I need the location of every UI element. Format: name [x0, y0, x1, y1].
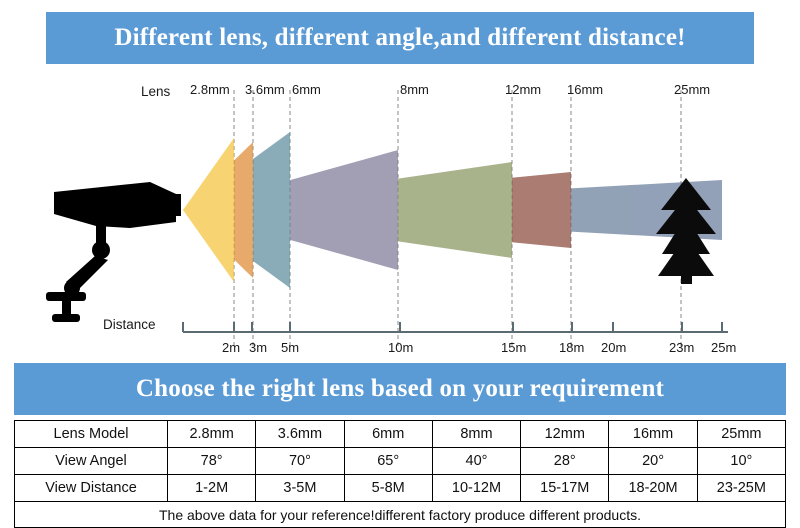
lens-coverage-diagram: Lens Distance — [0, 64, 800, 364]
distance-tick-25m: 25m — [711, 340, 736, 355]
title-banner: Different lens, different angle,and diff… — [46, 12, 754, 64]
subtitle-banner-text: Choose the right lens based on your requ… — [136, 375, 664, 403]
cell-lens-model-6mm: 6mm — [344, 421, 432, 448]
table-footnote-row: The above data for your reference!differ… — [15, 502, 786, 528]
table-footnote: The above data for your reference!differ… — [15, 502, 786, 528]
cell-lens-model-2-8mm: 2.8mm — [168, 421, 256, 448]
distance-axis — [183, 322, 728, 332]
row-header-lens-model: Lens Model — [15, 421, 168, 448]
infographic-root: Different lens, different angle,and diff… — [0, 0, 800, 521]
distance-tick-23m: 23m — [669, 340, 694, 355]
cell-view-angel-8mm: 40° — [432, 448, 520, 475]
cell-view-distance-6mm: 5-8M — [344, 475, 432, 502]
cell-view-angel-16mm: 20° — [609, 448, 697, 475]
distance-tick-3m: 3m — [249, 340, 267, 355]
table-row: View Angel 78° 70° 65° 40° 28° 20° 10° — [15, 448, 786, 475]
lens-tick-25mm: 25mm — [674, 82, 710, 97]
fov-cones — [183, 132, 722, 288]
cell-view-distance-3-6mm: 3-5M — [256, 475, 344, 502]
row-header-view-distance: View Distance — [15, 475, 168, 502]
cell-view-distance-8mm: 10-12M — [432, 475, 520, 502]
distance-tick-2m: 2m — [222, 340, 240, 355]
distance-tick-18m: 18m — [559, 340, 584, 355]
cell-view-distance-12mm: 15-17M — [521, 475, 609, 502]
fov-cone-2-8mm — [183, 138, 234, 282]
distance-tick-5m: 5m — [281, 340, 299, 355]
distance-tick-15m: 15m — [501, 340, 526, 355]
cell-view-angel-6mm: 65° — [344, 448, 432, 475]
lens-tick-2-8mm: 2.8mm — [190, 82, 230, 97]
title-banner-text: Different lens, different angle,and diff… — [114, 24, 685, 52]
cell-view-angel-2-8mm: 78° — [168, 448, 256, 475]
cell-lens-model-8mm: 8mm — [432, 421, 520, 448]
lens-axis-label: Lens — [141, 84, 170, 99]
cell-lens-model-3-6mm: 3.6mm — [256, 421, 344, 448]
lens-tick-16mm: 16mm — [567, 82, 603, 97]
cell-view-distance-2-8mm: 1-2M — [168, 475, 256, 502]
lens-spec-table: Lens Model 2.8mm 3.6mm 6mm 8mm 12mm 16mm… — [14, 420, 786, 528]
cell-lens-model-12mm: 12mm — [521, 421, 609, 448]
distance-tick-20m: 20m — [601, 340, 626, 355]
cell-view-distance-25mm: 23-25M — [697, 475, 785, 502]
table-row: View Distance 1-2M 3-5M 5-8M 10-12M 15-1… — [15, 475, 786, 502]
cell-lens-model-25mm: 25mm — [697, 421, 785, 448]
cell-view-angel-25mm: 10° — [697, 448, 785, 475]
table-row: Lens Model 2.8mm 3.6mm 6mm 8mm 12mm 16mm… — [15, 421, 786, 448]
cell-view-distance-16mm: 18-20M — [609, 475, 697, 502]
row-header-view-angel: View Angel — [15, 448, 168, 475]
lens-tick-12mm: 12mm — [505, 82, 541, 97]
distance-axis-label: Distance — [103, 317, 156, 332]
subtitle-banner: Choose the right lens based on your requ… — [14, 363, 786, 415]
lens-tick-6mm: 6mm — [292, 82, 321, 97]
lens-tick-3-6mm: 3.6mm — [245, 82, 285, 97]
cell-lens-model-16mm: 16mm — [609, 421, 697, 448]
cell-view-angel-3-6mm: 70° — [256, 448, 344, 475]
lens-tick-8mm: 8mm — [400, 82, 429, 97]
cell-view-angel-12mm: 28° — [521, 448, 609, 475]
cctv-camera-icon — [46, 182, 181, 322]
distance-tick-10m: 10m — [388, 340, 413, 355]
